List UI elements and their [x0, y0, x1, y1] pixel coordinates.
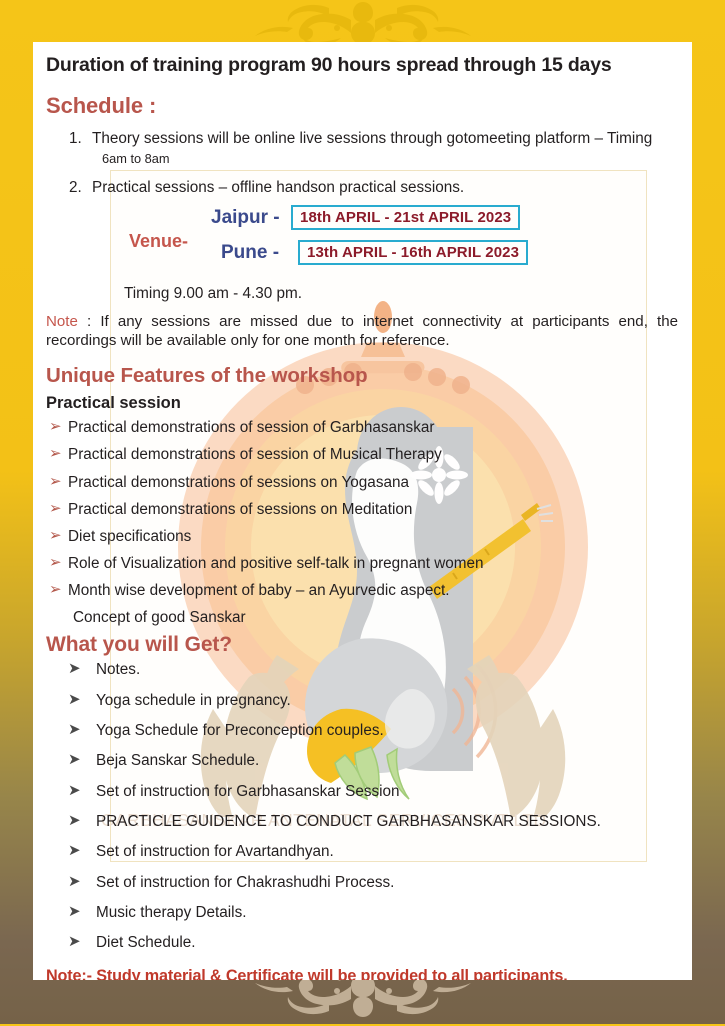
list-item-label: Set of instruction for Garbhasanskar Ses… [96, 783, 400, 800]
list-item: ➤PRACTICLE GUIDENCE TO CONDUCT GARBHASAN… [46, 813, 678, 831]
list-item-label: Practical demonstrations of sessions on … [68, 501, 412, 518]
list-item-label: Diet Schedule. [96, 934, 196, 951]
arrow-bullet-icon: ➤ [68, 751, 81, 769]
flyer-card: GARBHASANSKAR ANTENATAL SERVICES PVT LTD… [33, 42, 692, 980]
schedule-item-theory: Theory sessions will be online live sess… [86, 129, 678, 169]
list-item-label: Beja Sanskar Schedule. [96, 752, 259, 769]
venue-dates-jaipur: 18th APRIL - 21st APRIL 2023 [291, 205, 520, 230]
arrow-bullet-icon: ➢ [49, 445, 62, 463]
arrow-bullet-icon: ➤ [68, 933, 81, 951]
arrow-bullet-icon: ➤ [68, 782, 81, 800]
list-item: ➤Set of instruction for Avartandhyan. [46, 843, 678, 861]
list-item: ➤Set of instruction for Garbhasanskar Se… [46, 783, 678, 801]
list-item: ➤Beja Sanskar Schedule. [46, 752, 678, 770]
list-item-label: Practical demonstrations of sessions on … [68, 474, 409, 491]
arrow-bullet-icon: ➢ [49, 527, 62, 545]
list-item: ➤Diet Schedule. [46, 934, 678, 952]
venue-city-pune: Pune - [221, 242, 279, 264]
schedule-item-practical: Practical sessions – offline handson pra… [86, 178, 678, 198]
list-item: ➢Practical demonstrations of sessions on… [46, 474, 678, 493]
list-item-label: Month wise development of baby – an Ayur… [68, 582, 450, 599]
note-text: : If any sessions are missed due to inte… [46, 313, 678, 349]
schedule-item-theory-text: Theory sessions will be online live sess… [92, 130, 652, 147]
concept-of-good-sanskar-line: Concept of good Sanskar [73, 609, 678, 627]
list-item-label: Music therapy Details. [96, 904, 246, 921]
arrow-bullet-icon: ➢ [49, 418, 62, 436]
list-item-label: Yoga Schedule for Preconception couples. [96, 722, 384, 739]
arrow-bullet-icon: ➢ [49, 554, 62, 572]
venue-block: Venue- Jaipur - 18th APRIL - 21st APRIL … [46, 207, 678, 281]
note-label: Note [46, 313, 78, 330]
list-item-label: Set of instruction for Chakrashudhi Proc… [96, 874, 394, 891]
page-title: Duration of training program 90 hours sp… [46, 54, 678, 77]
connectivity-note: Note : If any sessions are missed due to… [46, 312, 678, 351]
what-you-get-list: ➤Notes. ➤Yoga schedule in pregnancy. ➤Yo… [46, 661, 678, 952]
schedule-item-practical-text: Practical sessions – offline handson pra… [92, 179, 464, 196]
arrow-bullet-icon: ➤ [68, 812, 81, 830]
what-you-get-heading: What you will Get? [46, 633, 678, 657]
list-item-label: Practical demonstrations of session of M… [68, 446, 442, 463]
list-item-label: Notes. [96, 661, 140, 678]
unique-features-list: ➢Practical demonstrations of session of … [46, 419, 678, 601]
venue-dates-pune: 13th APRIL - 16th APRIL 2023 [298, 240, 528, 265]
arrow-bullet-icon: ➤ [68, 903, 81, 921]
arrow-bullet-icon: ➤ [68, 660, 81, 678]
list-item: ➢Month wise development of baby – an Ayu… [46, 582, 678, 601]
schedule-heading: Schedule : [46, 93, 678, 119]
list-item-label: Role of Visualization and positive self-… [68, 555, 484, 572]
list-item: ➤Set of instruction for Chakrashudhi Pro… [46, 874, 678, 892]
practical-timing-line: Timing 9.00 am - 4.30 pm. [124, 285, 678, 303]
list-item: ➢Diet specifications [46, 528, 678, 547]
list-item: ➢Practical demonstrations of session of … [46, 419, 678, 438]
unique-features-heading: Unique Features of the workshop [46, 364, 678, 388]
footnote-study-material: Note:- Study material & Certificate will… [46, 965, 678, 980]
theory-timing-value: 6am to 8am [102, 151, 170, 166]
arrow-bullet-icon: ➤ [68, 691, 81, 709]
schedule-list: Theory sessions will be online live sess… [64, 129, 678, 198]
list-item-label: PRACTICLE GUIDENCE TO CONDUCT GARBHASANS… [96, 813, 601, 830]
venue-city-jaipur: Jaipur - [211, 207, 280, 229]
list-item: ➤Music therapy Details. [46, 904, 678, 922]
list-item-label: Set of instruction for Avartandhyan. [96, 843, 334, 860]
arrow-bullet-icon: ➤ [68, 842, 81, 860]
arrow-bullet-icon: ➤ [68, 873, 81, 891]
arrow-bullet-icon: ➤ [68, 721, 81, 739]
list-item-label: Yoga schedule in pregnancy. [96, 692, 291, 709]
flyer-content: Duration of training program 90 hours sp… [33, 54, 692, 980]
venue-label: Venue- [129, 231, 188, 252]
practical-session-subheading: Practical session [46, 394, 678, 413]
arrow-bullet-icon: ➢ [49, 581, 62, 599]
arrow-bullet-icon: ➢ [49, 500, 62, 518]
list-item: ➤Yoga Schedule for Preconception couples… [46, 722, 678, 740]
list-item: ➢Role of Visualization and positive self… [46, 555, 678, 574]
arrow-bullet-icon: ➢ [49, 473, 62, 491]
list-item: ➤Yoga schedule in pregnancy. [46, 692, 678, 710]
list-item-label: Diet specifications [68, 528, 191, 545]
list-item: ➢Practical demonstrations of session of … [46, 446, 678, 465]
list-item: ➤Notes. [46, 661, 678, 679]
list-item: ➢Practical demonstrations of sessions on… [46, 501, 678, 520]
list-item-label: Practical demonstrations of session of G… [68, 419, 434, 436]
